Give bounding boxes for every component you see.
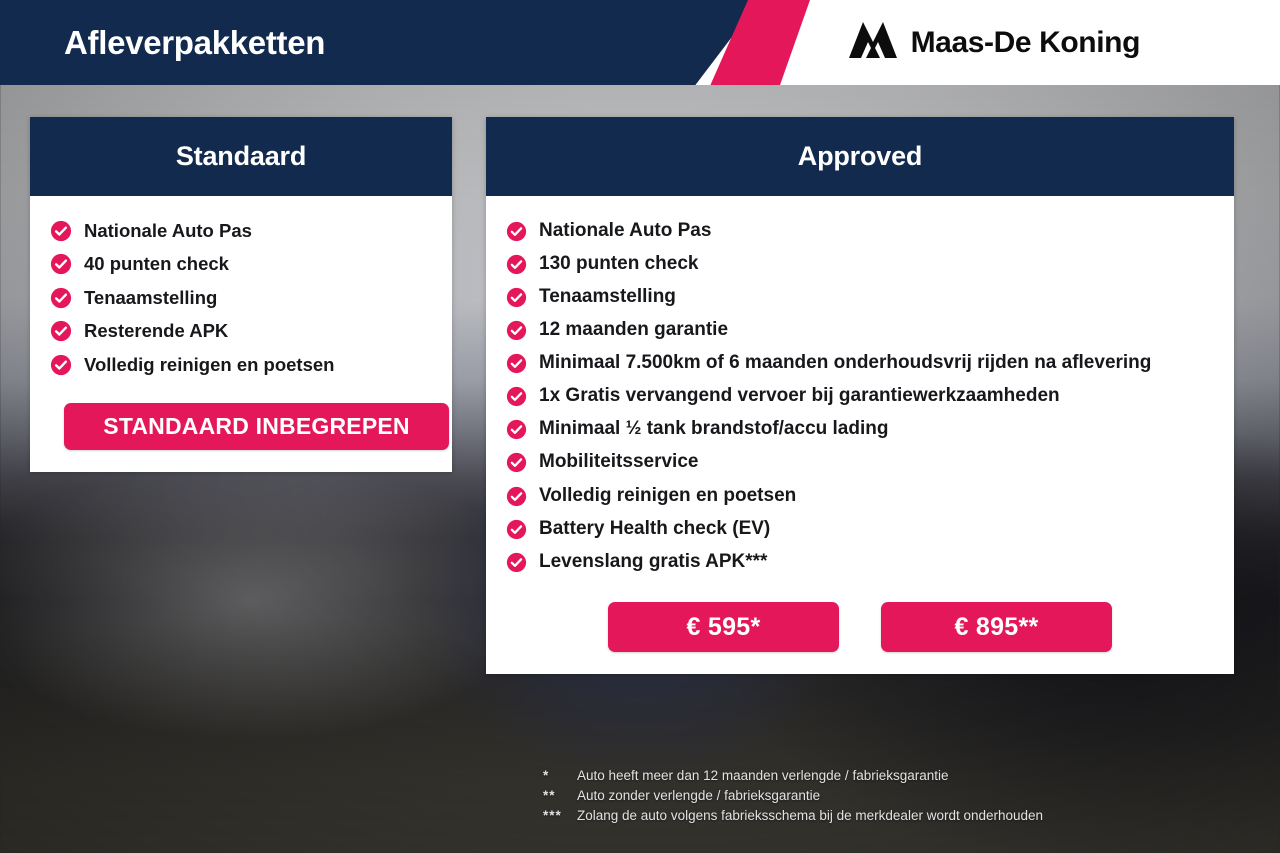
feature-label: Nationale Auto Pas xyxy=(539,219,711,243)
feature-list-approved: Nationale Auto Pas 130 punten check xyxy=(502,214,1218,578)
feature-label: 1x Gratis vervangend vervoer bij garanti… xyxy=(539,384,1060,408)
list-item: Nationale Auto Pas xyxy=(502,214,1218,247)
check-circle-icon xyxy=(50,220,72,242)
check-circle-icon xyxy=(506,519,527,540)
package-card-approved: Approved Nationale Auto Pas xyxy=(486,117,1234,674)
card-body-standaard: Nationale Auto Pas 40 punten check xyxy=(30,196,452,472)
footnote-triple-asterisk: *** Zolang de auto volgens fabrieksschem… xyxy=(543,806,1243,826)
check-circle-icon xyxy=(506,386,527,407)
list-item: Tenaamstelling xyxy=(46,281,436,314)
list-item: 40 punten check xyxy=(46,247,436,280)
feature-label: Nationale Auto Pas xyxy=(84,219,252,242)
footnote-text: Auto heeft meer dan 12 maanden verlengde… xyxy=(577,766,949,786)
check-circle-icon xyxy=(506,353,527,374)
card-title: Approved xyxy=(798,141,922,172)
check-circle-icon xyxy=(506,221,527,242)
footnote-marker: *** xyxy=(543,806,577,826)
feature-label: Volledig reinigen en poetsen xyxy=(84,353,334,376)
list-item: Minimaal 7.500km of 6 maanden onderhouds… xyxy=(502,347,1218,380)
footnote-text: Zolang de auto volgens fabrieksschema bi… xyxy=(577,806,1043,826)
list-item: 130 punten check xyxy=(502,247,1218,280)
feature-label: Levenslang gratis APK*** xyxy=(539,550,767,574)
list-item: Levenslang gratis APK*** xyxy=(502,545,1218,578)
price-button-row: € 595* € 895** xyxy=(502,602,1218,652)
check-circle-icon xyxy=(506,254,527,275)
list-item: Nationale Auto Pas xyxy=(46,214,436,247)
list-item: Minimaal ½ tank brandstof/accu lading xyxy=(502,413,1218,446)
promo-page: Afleverpakketten Maas-De Koning Standaar… xyxy=(0,0,1280,853)
footnote-marker: ** xyxy=(543,786,577,806)
maas-de-koning-m-mark-icon xyxy=(847,20,899,65)
list-item: Mobiliteitsservice xyxy=(502,446,1218,479)
feature-label: Volledig reinigen en poetsen xyxy=(539,484,796,508)
price-button-595[interactable]: € 595* xyxy=(608,602,839,652)
feature-label: Mobiliteitsservice xyxy=(539,450,698,474)
feature-label: Tenaamstelling xyxy=(84,286,217,309)
check-circle-icon xyxy=(506,486,527,507)
check-circle-icon xyxy=(506,287,527,308)
price-button-895[interactable]: € 895** xyxy=(881,602,1112,652)
footnote-single-asterisk: * Auto heeft meer dan 12 maanden verleng… xyxy=(543,766,1243,786)
feature-label: 40 punten check xyxy=(84,252,229,275)
list-item: Tenaamstelling xyxy=(502,280,1218,313)
footnote-marker: * xyxy=(543,766,577,786)
check-circle-icon xyxy=(50,354,72,376)
check-circle-icon xyxy=(506,552,527,573)
footnote-double-asterisk: ** Auto zonder verlengde / fabrieksgaran… xyxy=(543,786,1243,806)
page-title: Afleverpakketten xyxy=(64,0,325,85)
check-circle-icon xyxy=(50,253,72,275)
check-circle-icon xyxy=(50,287,72,309)
feature-label: 130 punten check xyxy=(539,252,698,276)
feature-label: Minimaal ½ tank brandstof/accu lading xyxy=(539,417,888,441)
card-title: Standaard xyxy=(176,141,306,172)
standaard-inbegrepen-button[interactable]: STANDAARD INBEGREPEN xyxy=(64,403,449,450)
list-item: Volledig reinigen en poetsen xyxy=(46,348,436,381)
feature-label: Minimaal 7.500km of 6 maanden onderhouds… xyxy=(539,351,1151,375)
feature-label: Battery Health check (EV) xyxy=(539,517,770,541)
brand-name: Maas-De Koning xyxy=(911,26,1140,60)
list-item: Volledig reinigen en poetsen xyxy=(502,479,1218,512)
package-card-standaard: Standaard Nationale Auto Pas xyxy=(30,117,452,472)
brand-logo: Maas-De Koning xyxy=(847,0,1140,85)
check-circle-icon xyxy=(50,320,72,342)
footnote-text: Auto zonder verlengde / fabrieksgarantie xyxy=(577,786,820,806)
card-header-standaard: Standaard xyxy=(30,117,452,196)
card-header-approved: Approved xyxy=(486,117,1234,196)
feature-label: Resterende APK xyxy=(84,319,228,342)
list-item: Resterende APK xyxy=(46,314,436,347)
card-body-approved: Nationale Auto Pas 130 punten check xyxy=(486,196,1234,674)
feature-list-standaard: Nationale Auto Pas 40 punten check xyxy=(46,214,436,381)
check-circle-icon xyxy=(506,419,527,440)
page-header: Afleverpakketten Maas-De Koning xyxy=(0,0,1280,85)
check-circle-icon xyxy=(506,452,527,473)
list-item: Battery Health check (EV) xyxy=(502,512,1218,545)
feature-label: Tenaamstelling xyxy=(539,285,676,309)
list-item: 12 maanden garantie xyxy=(502,313,1218,346)
footnotes: * Auto heeft meer dan 12 maanden verleng… xyxy=(543,766,1243,826)
list-item: 1x Gratis vervangend vervoer bij garanti… xyxy=(502,380,1218,413)
check-circle-icon xyxy=(506,320,527,341)
feature-label: 12 maanden garantie xyxy=(539,318,728,342)
